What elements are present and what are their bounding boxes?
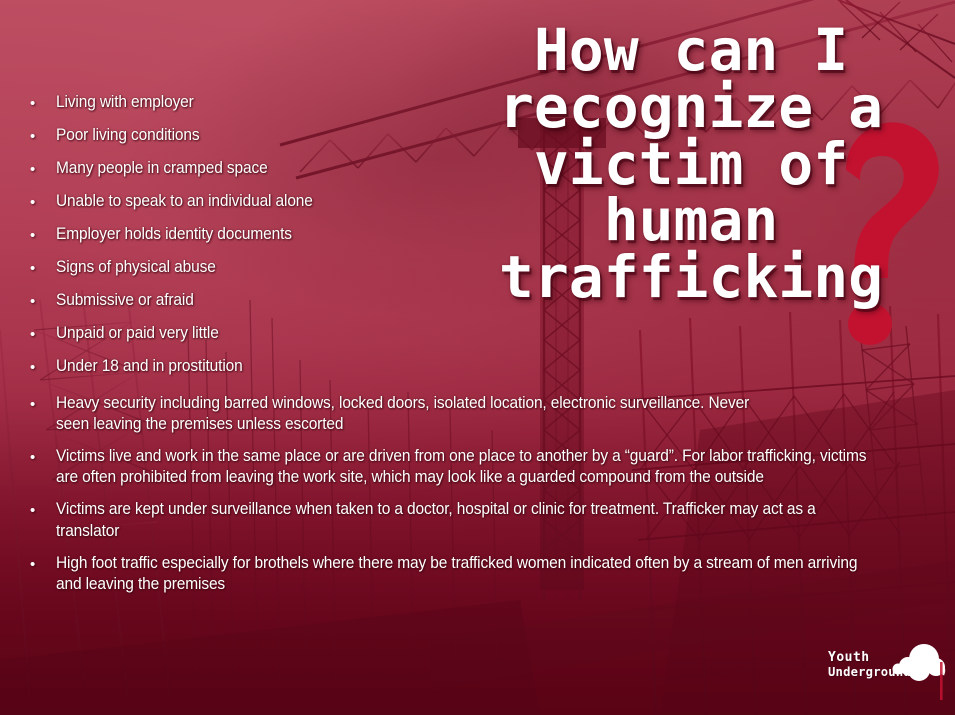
list-item-label: Living with employer (56, 92, 426, 113)
list-item-label: Victims are kept under surveillance when… (56, 499, 821, 541)
bullet-icon: • (30, 191, 56, 210)
bullet-icon: • (30, 158, 56, 177)
slide-canvas: How can I recognize a victim of human tr… (0, 0, 955, 715)
list-item-label: Under 18 and in prostitution (56, 356, 426, 377)
list-item-label: Unpaid or paid very little (56, 323, 426, 344)
list-item-label: Submissive or afraid (56, 290, 426, 311)
list-item: • Under 18 and in prostitution (30, 356, 450, 389)
list-item: • Poor living conditions (30, 125, 450, 158)
bullet-icon: • (30, 92, 56, 111)
bullet-icon: • (30, 125, 56, 144)
list-item-label: Employer holds identity documents (56, 224, 426, 245)
bullet-icon: • (30, 257, 56, 276)
list-item-label: Poor living conditions (56, 125, 426, 146)
logo-line-1: Youth (828, 650, 870, 665)
list-item: • Signs of physical abuse (30, 257, 450, 290)
indicator-list: • Living with employer • Poor living con… (30, 92, 920, 606)
bullet-icon: • (30, 553, 56, 572)
list-item-label: Signs of physical abuse (56, 257, 426, 278)
list-item: • Victims live and work in the same plac… (30, 446, 920, 488)
title-line-1: How can I (441, 22, 941, 79)
list-item-label: High foot traffic especially for brothel… (56, 553, 859, 595)
bullet-icon: • (30, 446, 56, 465)
list-item: • Employer holds identity documents (30, 224, 450, 257)
list-item: • Many people in cramped space (30, 158, 450, 191)
list-item: • Unable to speak to an individual alone (30, 191, 450, 224)
list-item: • Living with employer (30, 92, 450, 125)
bullet-icon: • (30, 290, 56, 309)
list-item-label: Heavy security including barred windows,… (56, 393, 774, 435)
bullet-icon: • (30, 224, 56, 243)
bullet-icon: • (30, 356, 56, 375)
bullet-icon: • (30, 323, 56, 342)
list-item-label: Many people in cramped space (56, 158, 426, 179)
bullet-icon: • (30, 393, 56, 412)
list-item: • Heavy security including barred window… (30, 393, 820, 435)
cloud-bubble-icon (886, 642, 948, 702)
list-item: • Unpaid or paid very little (30, 323, 450, 356)
youth-underground-logo[interactable]: Youth Underground (828, 644, 948, 702)
bullet-icon: • (30, 499, 56, 518)
list-item-label: Victims live and work in the same place … (56, 446, 868, 488)
list-item-label: Unable to speak to an individual alone (56, 191, 426, 212)
list-item: • Submissive or afraid (30, 290, 450, 323)
list-item: • High foot traffic especially for broth… (30, 553, 910, 595)
list-item: • Victims are kept under surveillance wh… (30, 499, 870, 541)
